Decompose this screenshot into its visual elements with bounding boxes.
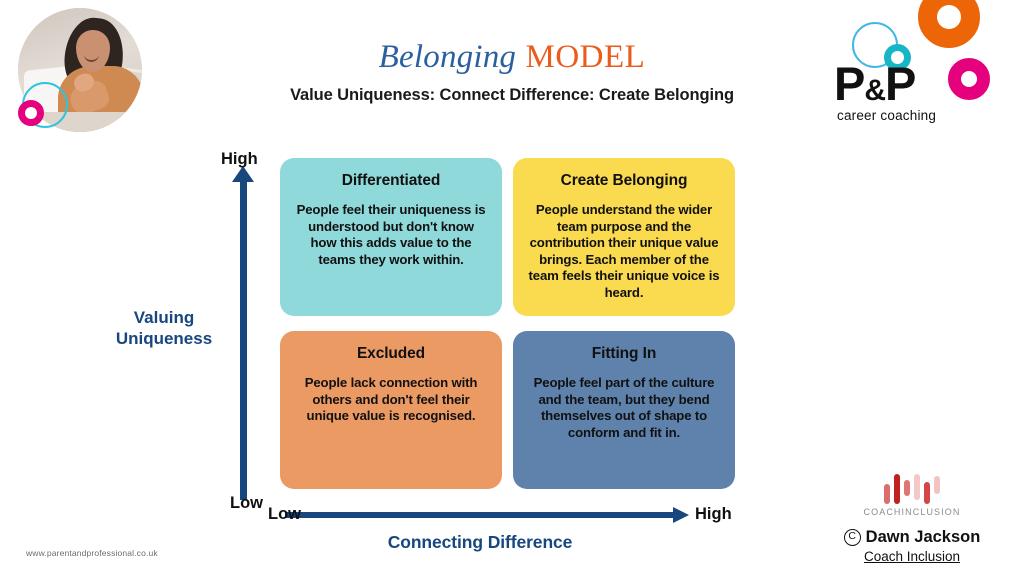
y-axis-title-line2: Uniqueness (94, 328, 234, 349)
y-axis-low-label: Low (230, 494, 263, 513)
coach-inclusion-link[interactable]: Coach Inclusion (818, 549, 1006, 564)
x-axis-line (285, 512, 675, 518)
quadrant-title: Fitting In (527, 345, 721, 363)
y-axis-title-line1: Valuing (94, 307, 234, 328)
quadrant-body: People understand the wider team purpose… (527, 202, 721, 302)
copyright-line: C Dawn Jackson (818, 528, 1006, 547)
x-axis-low-label: Low (268, 505, 301, 524)
quadrant-title: Differentiated (294, 172, 488, 190)
quadrant-body: People lack connection with others and d… (294, 375, 488, 425)
quadrant-title: Create Belonging (527, 172, 721, 190)
y-axis-line (240, 178, 247, 500)
copyright-name: Dawn Jackson (866, 528, 981, 547)
quadrant-body: People feel their uniqueness is understo… (294, 202, 488, 268)
quadrant-body: People feel part of the culture and the … (527, 375, 721, 441)
copyright-icon: C (844, 529, 861, 546)
x-axis-high-label: High (695, 505, 732, 524)
x-axis-title: Connecting Difference (285, 532, 675, 553)
quadrant-title: Excluded (294, 345, 488, 363)
quadrant-create-belonging: Create Belonging People understand the w… (513, 158, 735, 316)
footer-website-url[interactable]: www.parentandprofessional.co.uk (26, 548, 158, 558)
quadrant-fitting-in: Fitting In People feel part of the cultu… (513, 331, 735, 489)
coach-inclusion-bars-icon (818, 460, 1006, 504)
coach-inclusion-logo-text: CoachInclusion (818, 507, 1006, 517)
quadrant-excluded: Excluded People lack connection with oth… (280, 331, 502, 489)
y-axis-title: Valuing Uniqueness (94, 307, 234, 349)
coach-inclusion-block: CoachInclusion C Dawn Jackson Coach Incl… (818, 460, 1006, 564)
y-axis-high-label: High (221, 150, 258, 169)
x-axis-arrowhead-icon (673, 507, 689, 523)
quadrant-differentiated: Differentiated People feel their uniquen… (280, 158, 502, 316)
